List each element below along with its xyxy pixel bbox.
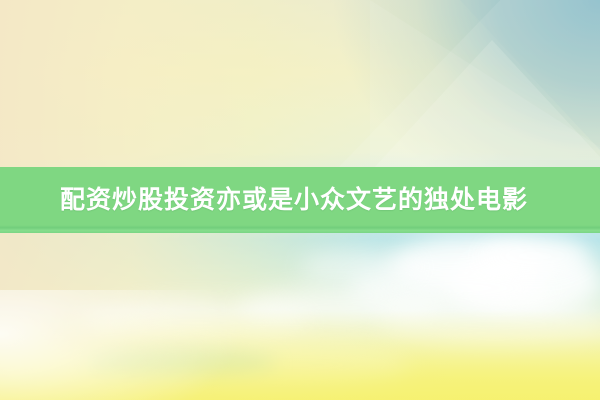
cloud-shape bbox=[300, 250, 420, 284]
title-band: 配资炒股投资亦或是小众文艺的独处电影 bbox=[0, 167, 600, 233]
bottom-left-haze bbox=[0, 290, 240, 400]
banner-title: 配资炒股投资亦或是小众文艺的独处电影 bbox=[60, 188, 528, 213]
decorative-banner: 配资炒股投资亦或是小众文艺的独处电影 bbox=[0, 0, 600, 400]
cloud-shape bbox=[480, 236, 590, 276]
